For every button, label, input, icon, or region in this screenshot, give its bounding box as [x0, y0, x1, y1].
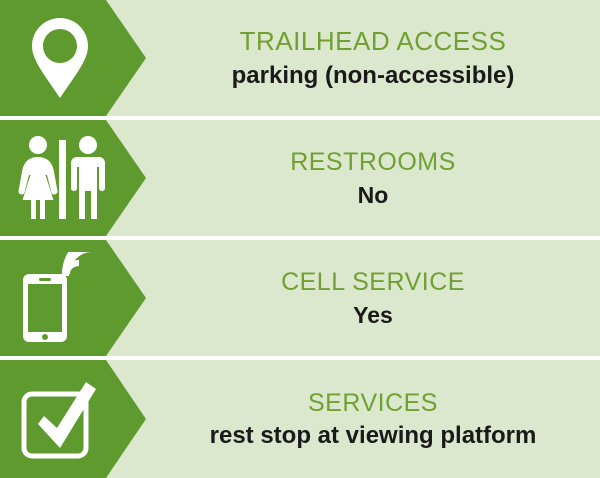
row-title-restrooms: RESTROOMS	[290, 149, 456, 175]
info-row-services: SERVICES rest stop at viewing platform	[0, 360, 600, 478]
text-panel-trailhead-access: TRAILHEAD ACCESS parking (non-accessible…	[146, 0, 600, 116]
info-row-cell-service: CELL SERVICE Yes	[0, 240, 600, 356]
icon-panel-services	[0, 360, 146, 478]
info-row-trailhead-access: TRAILHEAD ACCESS parking (non-accessible…	[0, 0, 600, 116]
cell-phone-signal-icon	[14, 252, 106, 344]
row-value-services: rest stop at viewing platform	[210, 423, 537, 448]
row-value-restrooms: No	[358, 183, 389, 207]
row-value-cell-service: Yes	[353, 303, 393, 327]
row-title-trailhead-access: TRAILHEAD ACCESS	[240, 28, 507, 55]
text-panel-cell-service: CELL SERVICE Yes	[146, 240, 600, 356]
text-panel-services: SERVICES rest stop at viewing platform	[146, 360, 600, 478]
map-pin-icon	[14, 12, 106, 104]
restrooms-icon	[14, 134, 110, 222]
icon-panel-cell-service	[0, 240, 146, 356]
icon-panel-restrooms	[0, 120, 146, 236]
row-title-services: SERVICES	[308, 390, 438, 416]
icon-panel-trailhead-access	[0, 0, 146, 116]
text-panel-restrooms: RESTROOMS No	[146, 120, 600, 236]
checkbox-check-icon	[14, 372, 108, 466]
info-row-restrooms: RESTROOMS No	[0, 120, 600, 236]
row-value-trailhead-access: parking (non-accessible)	[232, 63, 515, 88]
trail-amenities-infographic: TRAILHEAD ACCESS parking (non-accessible…	[0, 0, 600, 478]
row-title-cell-service: CELL SERVICE	[281, 269, 465, 295]
